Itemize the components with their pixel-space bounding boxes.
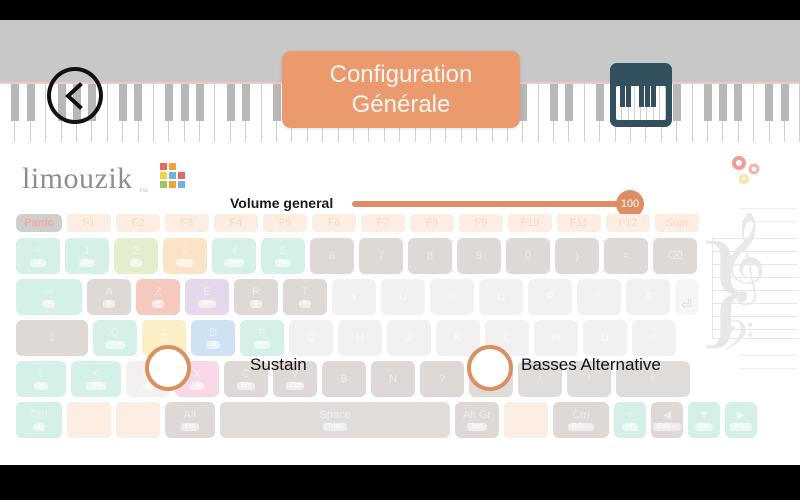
gears-icon (724, 152, 772, 192)
key-label: M (551, 332, 560, 344)
key-f5[interactable]: F5 (263, 214, 307, 232)
key-sublabel: D (190, 382, 203, 390)
piano-black-key (704, 84, 712, 121)
key-7[interactable]: 7 (359, 238, 403, 274)
piano-icon-black-key (645, 86, 650, 107)
keyboard-row-space-row: Ctrl1AltFmSpaceTriadAlt GrSusCtrlBck—↑Hh… (16, 402, 680, 438)
volume-slider-track[interactable] (352, 201, 642, 207)
key-1[interactable]: 1Re (65, 238, 109, 274)
key-f7[interactable]: F7 (361, 214, 405, 232)
key-label: J (406, 332, 412, 344)
page-title-line2: Générale (352, 90, 451, 120)
key-$[interactable]: $ (626, 279, 670, 315)
key-label: G (307, 332, 316, 344)
key-o[interactable]: O (479, 279, 523, 315)
key-sublabel: Re (30, 259, 47, 267)
key-f[interactable]: FFa (240, 320, 284, 356)
key-sublabel: < (43, 300, 55, 308)
key-label: F5 (279, 217, 292, 229)
key-f1[interactable]: F1 (67, 214, 111, 232)
key-label: F4 (230, 217, 243, 229)
key-alt-gr[interactable]: Alt GrSus (455, 402, 499, 438)
key-0[interactable]: 0 (506, 238, 550, 274)
app-root: Configuration Générale limouzik rss (0, 0, 800, 500)
key-label: A (105, 286, 112, 298)
key-label: R (252, 286, 260, 298)
key-label: ◀ (663, 409, 671, 421)
key-sublabel: E (130, 259, 143, 267)
key-label: Z (155, 286, 162, 298)
treble-clef-icon: 𝄞 (720, 218, 766, 296)
piano-black-key (181, 84, 189, 121)
main-content: limouzik rss Volu (0, 142, 800, 465)
key-^[interactable]: ^ (577, 279, 621, 315)
key-label: C (242, 368, 250, 380)
key-label: 5 (280, 245, 286, 257)
key-4[interactable]: 4Sim (212, 238, 256, 274)
key-label: Q (111, 327, 120, 339)
key-u[interactable]: U (381, 279, 425, 315)
key-label: < (93, 368, 99, 380)
basses-alternative-toggle[interactable] (467, 345, 513, 391)
piano-black-key (565, 84, 573, 121)
key-label: Supr (665, 217, 688, 229)
piano-black-key (781, 84, 789, 121)
key-⇧[interactable]: ⇧2t (16, 361, 66, 397)
key-f2[interactable]: F2 (116, 214, 160, 232)
piano-black-key (765, 84, 773, 121)
key-label: F6 (328, 217, 341, 229)
key-enter[interactable]: ⏎ (675, 279, 698, 315)
piano-icon-keys (616, 86, 666, 120)
piano-black-key (242, 84, 250, 121)
keyboard-row-function-row: PanicF1F2F3F4F5F6F7F8F9F10F11F12Supr (16, 214, 680, 232)
key-a[interactable]: A5 (87, 279, 131, 315)
key-sublabel: Sim (224, 259, 244, 267)
key-label: B (340, 373, 347, 385)
piano-black-key (227, 84, 235, 121)
piano-black-key (196, 84, 204, 121)
key-label: 4 (231, 245, 237, 257)
key-label: N (389, 373, 397, 385)
key-label: L (504, 332, 510, 344)
brand-logo-text: limouzik (22, 162, 133, 196)
key-8[interactable]: 8 (408, 238, 452, 274)
key-label: ? (439, 373, 445, 385)
brand-logo: limouzik rss (22, 162, 182, 200)
page-title-button[interactable]: Configuration Générale (282, 51, 520, 128)
key-label: F8 (426, 217, 439, 229)
key-i[interactable]: I (430, 279, 474, 315)
piano-black-key (27, 84, 35, 121)
key-sublabel: Em (237, 382, 256, 390)
key-label: 1 (84, 245, 90, 257)
key-sublabel: BVb— (653, 423, 681, 431)
key-label: = (623, 250, 629, 262)
key-²[interactable]: ²Re (16, 238, 60, 274)
key-sublabel: Am (198, 300, 217, 308)
key-label: X (193, 368, 200, 380)
key-f8[interactable]: F8 (410, 214, 454, 232)
key-label: 0 (525, 250, 531, 262)
sustain-toggle[interactable] (145, 345, 191, 391)
basses-alternative-label: Basses Alternative (521, 355, 661, 375)
key-q[interactable]: QT7s (93, 320, 137, 356)
key-ctrl[interactable]: CtrlBck— (553, 402, 609, 438)
sustain-label: Sustain (250, 355, 307, 375)
piano-black-key (165, 84, 173, 121)
key-sublabel: F (152, 300, 164, 308)
volume-label: Volume general (230, 195, 333, 211)
virtual-keyboard: PanicF1F2F3F4F5F6F7F8F9F10F11F12Supr²Re1… (16, 214, 680, 443)
key-label: 8 (427, 250, 433, 262)
key-sublabel: Dm (176, 259, 195, 267)
key-f10[interactable]: F10 (508, 214, 552, 232)
key-sublabel: Re (79, 259, 96, 267)
key-j[interactable]: J (387, 320, 431, 356)
key-arrow-2[interactable]: ▼Sol (688, 402, 720, 438)
key-label: U (399, 291, 407, 303)
key-label: F10 (521, 217, 540, 229)
piano-black-key (673, 84, 681, 121)
music-staff: } 𝄞 𝄢 (694, 222, 798, 402)
piano-black-key (596, 84, 604, 121)
key-label: Ù (601, 332, 609, 344)
key-label: 7 (378, 250, 384, 262)
key-blank-2[interactable] (116, 402, 160, 438)
key-label: Ctrl (572, 409, 589, 421)
key-n[interactable]: N (371, 361, 415, 397)
key-label: ↑ (627, 409, 633, 421)
keyboard-row-home-row: ⇪QT7sSDGFFaGHJKLMÙ* (16, 320, 680, 356)
key-label: ⇪ (47, 332, 56, 344)
key-r[interactable]: R6 (234, 279, 278, 315)
key-sublabel: 7Ph (86, 382, 106, 390)
key-label: ^ (596, 291, 601, 303)
key-sublabel: Sus (467, 423, 487, 431)
key-b[interactable]: B (322, 361, 366, 397)
key-label: ² (36, 245, 40, 257)
key-sublabel: 6 (250, 300, 262, 308)
key-5[interactable]: 5Fa (261, 238, 305, 274)
key-sublabel: 5 (103, 300, 115, 308)
piano-keyboard-icon[interactable] (610, 63, 672, 127)
key-sublabel: Bck— (568, 423, 595, 431)
key-label: 9 (476, 250, 482, 262)
key-)[interactable]: ) (555, 238, 599, 274)
piano-black-key (134, 84, 142, 121)
key-label: P (546, 291, 553, 303)
key-label: * (652, 332, 656, 344)
key-space[interactable]: SpaceTriad (220, 402, 450, 438)
key-label: D (209, 327, 217, 339)
key-sublabel: Fa (254, 341, 270, 349)
key-sublabel: Fm (181, 423, 199, 431)
key-label: F9 (475, 217, 488, 229)
key-arrow-1[interactable]: ◀BVb— (651, 402, 683, 438)
key-label: F12 (619, 217, 638, 229)
letterbox-bottom (0, 465, 800, 500)
key-ctrl[interactable]: Ctrl1 (16, 402, 62, 438)
piano-black-key (519, 84, 527, 121)
key-label: Y (350, 291, 357, 303)
key-label: ▼ (699, 409, 710, 421)
key-=[interactable]: = (604, 238, 648, 274)
key-arrow-0[interactable]: ↑Hh (614, 402, 646, 438)
key-label: ⌫ (667, 250, 683, 262)
piano-icon-black-key (651, 86, 656, 107)
bass-clef-icon: 𝄢 (722, 316, 754, 366)
key-label: S (160, 332, 167, 344)
key-label: H (356, 332, 364, 344)
key-sublabel: G (206, 341, 219, 349)
key-*[interactable]: * (632, 320, 676, 356)
key-label: F3 (181, 217, 194, 229)
key-label: Space (319, 409, 350, 421)
staff-barline (712, 238, 713, 338)
key-label: F (259, 327, 266, 339)
key-label: K (454, 332, 461, 344)
key-label: F1 (83, 217, 96, 229)
key-sublabel: 2t (34, 382, 48, 390)
piano-icon-white-key (660, 86, 666, 120)
key-label: $ (645, 291, 651, 303)
key-panic[interactable]: Panic (16, 214, 62, 232)
key-blank-6[interactable] (504, 402, 548, 438)
piano-black-key (734, 84, 742, 121)
key-?[interactable]: ? (420, 361, 464, 397)
key-label: 6 (329, 250, 335, 262)
key-label: ⇧ (36, 368, 45, 380)
piano-black-key (550, 84, 558, 121)
key-label: E (203, 286, 210, 298)
keyboard-row-tab-row: ⇥<A5ZFEAmR6ThYUIOP^$⏎ (16, 279, 680, 315)
key-p[interactable]: P (528, 279, 572, 315)
piano-icon-black-key (639, 86, 644, 107)
key-sublabel: Hh (622, 423, 639, 431)
key-label: 2 (133, 245, 139, 257)
key-label: F7 (377, 217, 390, 229)
key-e[interactable]: EAm (185, 279, 229, 315)
chevron-left-icon (63, 81, 87, 111)
key-2[interactable]: 2E (114, 238, 158, 274)
key-⌫[interactable]: ⌫ (653, 238, 697, 274)
key-label: F11 (570, 217, 588, 229)
back-button[interactable] (47, 67, 103, 124)
key-label: Panic (24, 217, 53, 229)
key-label: ) (575, 250, 579, 262)
key-h[interactable]: H (338, 320, 382, 356)
letterbox-top (0, 0, 800, 20)
key-sublabel: T7s (105, 341, 125, 349)
key-label: Alt (184, 409, 197, 421)
key-<[interactable]: <7Ph (71, 361, 121, 397)
key-label: Ctrl (30, 409, 47, 421)
key-3[interactable]: 3Dm (163, 238, 207, 274)
key-t[interactable]: Th (283, 279, 327, 315)
brand-logo-tagline: rss (140, 188, 148, 194)
piano-icon-black-key (626, 86, 631, 107)
page-title-line1: Configuration (330, 60, 473, 90)
key-z[interactable]: ZF (136, 279, 180, 315)
key-arrow-3[interactable]: ▶W12 (725, 402, 757, 438)
key-y[interactable]: Y (332, 279, 376, 315)
key-d[interactable]: DG (191, 320, 235, 356)
piano-black-key (119, 84, 127, 121)
key-6[interactable]: 6 (310, 238, 354, 274)
key-⇥[interactable]: ⇥< (16, 279, 82, 315)
key-⇪[interactable]: ⇪ (16, 320, 88, 356)
key-label: F2 (132, 217, 145, 229)
key-f9[interactable]: F9 (459, 214, 503, 232)
key-supr[interactable]: Supr (655, 214, 699, 232)
piano-black-key (11, 84, 19, 121)
key-blank-1[interactable] (67, 402, 111, 438)
key-sublabel: Triad (323, 423, 347, 431)
key-f12[interactable]: F12 (606, 214, 650, 232)
key-label: I (450, 291, 453, 303)
key-label: 3 (182, 245, 188, 257)
key-9[interactable]: 9 (457, 238, 501, 274)
key-label: ⇥ (44, 286, 53, 298)
key-sublabel: Oct (286, 382, 305, 390)
key-m[interactable]: M (534, 320, 578, 356)
key-f4[interactable]: F4 (214, 214, 258, 232)
key-sublabel: 1 (33, 423, 45, 431)
piano-black-key (719, 84, 727, 121)
piano-icon-black-key (620, 86, 625, 107)
key-sublabel: Fa (275, 259, 291, 267)
key-label: ▶ (737, 409, 745, 421)
key-label: O (497, 291, 506, 303)
key-f6[interactable]: F6 (312, 214, 356, 232)
app-header: Configuration Générale (0, 20, 800, 142)
key-sublabel: h (299, 300, 311, 308)
key-sublabel: W12 (730, 423, 752, 431)
key-f3[interactable]: F3 (165, 214, 209, 232)
key-ù[interactable]: Ù (583, 320, 627, 356)
key-f11[interactable]: F11 (557, 214, 601, 232)
key-sublabel: Sol (695, 423, 713, 431)
piano-black-key (273, 84, 281, 121)
key-label: T (302, 286, 309, 298)
key-g[interactable]: G (289, 320, 333, 356)
key-alt[interactable]: AltFm (165, 402, 215, 438)
keyboard-row-number-row: ²Re1Re2E3Dm4Sim5Fa67890)=⌫ (16, 238, 680, 274)
app-stage: Configuration Générale limouzik rss (0, 20, 800, 465)
key-label: Alt Gr (463, 409, 491, 421)
